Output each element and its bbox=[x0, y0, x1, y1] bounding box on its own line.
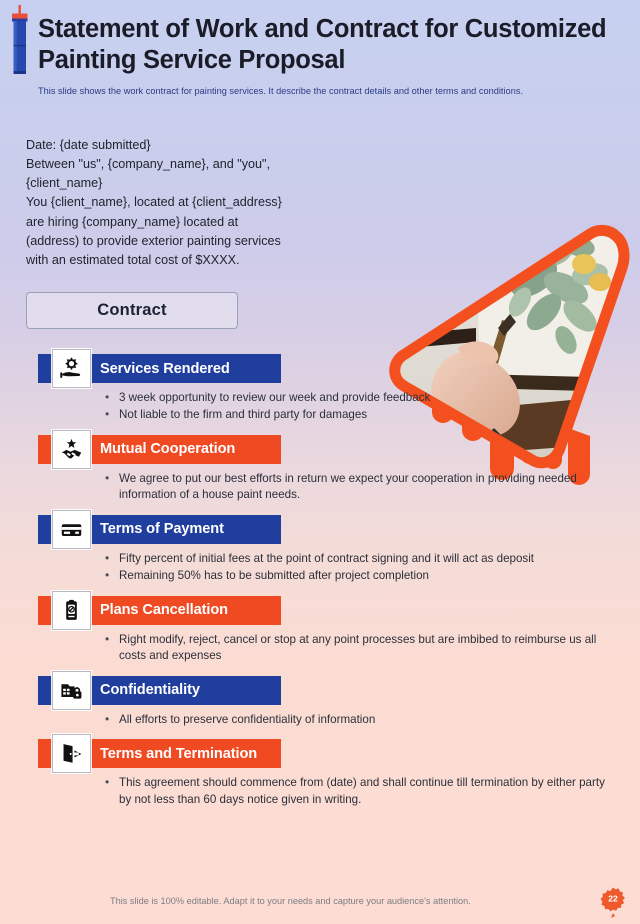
section-mutual-cooperation: Mutual Cooperation We agree to put our b… bbox=[0, 435, 640, 504]
section-services-rendered: Services Rendered 3 week opportunity t bbox=[0, 354, 640, 424]
page-number: 22 bbox=[608, 894, 618, 904]
credit-card-icon bbox=[52, 510, 91, 549]
section-header[interactable]: Terms of Payment bbox=[0, 515, 640, 544]
door-exit-icon bbox=[52, 734, 91, 773]
bullet-item: 3 week opportunity to review our week an… bbox=[105, 390, 605, 406]
section-bullets: We agree to put our best efforts in retu… bbox=[105, 471, 605, 504]
page-title: Statement of Work and Contract for Custo… bbox=[38, 10, 620, 76]
bullet-item: This agreement should commence from (dat… bbox=[105, 775, 605, 808]
section-title: Terms and Termination bbox=[100, 746, 257, 762]
section-title: Services Rendered bbox=[100, 361, 230, 377]
footer-note: This slide is 100% editable. Adapt it to… bbox=[110, 896, 471, 906]
section-terms-and-termination: Terms and Termination This agreement sho… bbox=[0, 739, 640, 808]
folder-lock-icon bbox=[52, 671, 91, 710]
section-terms-of-payment: Terms of Payment Fifty percent of initia… bbox=[0, 515, 640, 585]
slide-header: Statement of Work and Contract for Custo… bbox=[0, 0, 640, 104]
section-title: Plans Cancellation bbox=[100, 602, 228, 618]
clipboard-cancel-icon bbox=[52, 591, 91, 630]
section-header[interactable]: Plans Cancellation bbox=[0, 596, 640, 625]
section-header[interactable]: Mutual Cooperation bbox=[0, 435, 640, 464]
slide-footer: This slide is 100% editable. Adapt it to… bbox=[0, 884, 640, 924]
section-title: Terms of Payment bbox=[100, 521, 224, 537]
section-header[interactable]: Confidentiality bbox=[0, 676, 640, 705]
bullet-item: Right modify, reject, cancel or stop at … bbox=[105, 632, 605, 665]
page-subtitle: This slide shows the work contract for p… bbox=[38, 86, 620, 96]
bullet-item: We agree to put our best efforts in retu… bbox=[105, 471, 605, 504]
section-bullets: All efforts to preserve confidentiality … bbox=[105, 712, 605, 728]
contract-intro-block: Date: {date submitted} Between "us", {co… bbox=[0, 104, 640, 354]
page-badge-shape: 22 bbox=[598, 886, 628, 918]
hand-gear-service-icon bbox=[52, 349, 91, 388]
section-bullets: Fifty percent of initial fees at the poi… bbox=[105, 551, 605, 585]
section-header[interactable]: Terms and Termination bbox=[0, 739, 640, 768]
bullet-item: Remaining 50% has to be submitted after … bbox=[105, 568, 605, 584]
section-title: Mutual Cooperation bbox=[100, 441, 235, 457]
section-title: Confidentiality bbox=[100, 682, 200, 698]
section-bullets: Right modify, reject, cancel or stop at … bbox=[105, 632, 605, 665]
section-confidentiality: Confidentiality All efforts to preserve … bbox=[0, 676, 640, 728]
bullet-item: Not liable to the firm and third party f… bbox=[105, 407, 605, 423]
contract-body-text: Date: {date submitted} Between "us", {co… bbox=[26, 136, 346, 270]
contract-button[interactable]: Contract bbox=[26, 292, 238, 329]
bullet-item: All efforts to preserve confidentiality … bbox=[105, 712, 605, 728]
contract-sections: Services Rendered 3 week opportunity t bbox=[0, 354, 640, 808]
bullet-item: Fifty percent of initial fees at the poi… bbox=[105, 551, 605, 567]
section-plans-cancellation: Plans Cancellation Right modify, reject,… bbox=[0, 596, 640, 665]
contract-button-label: Contract bbox=[97, 301, 166, 320]
section-bullets: 3 week opportunity to review our week an… bbox=[105, 390, 605, 424]
section-bullets: This agreement should commence from (dat… bbox=[105, 775, 605, 808]
handshake-star-icon bbox=[52, 430, 91, 469]
paint-roller-icon bbox=[8, 4, 32, 80]
section-header[interactable]: Services Rendered bbox=[0, 354, 640, 383]
